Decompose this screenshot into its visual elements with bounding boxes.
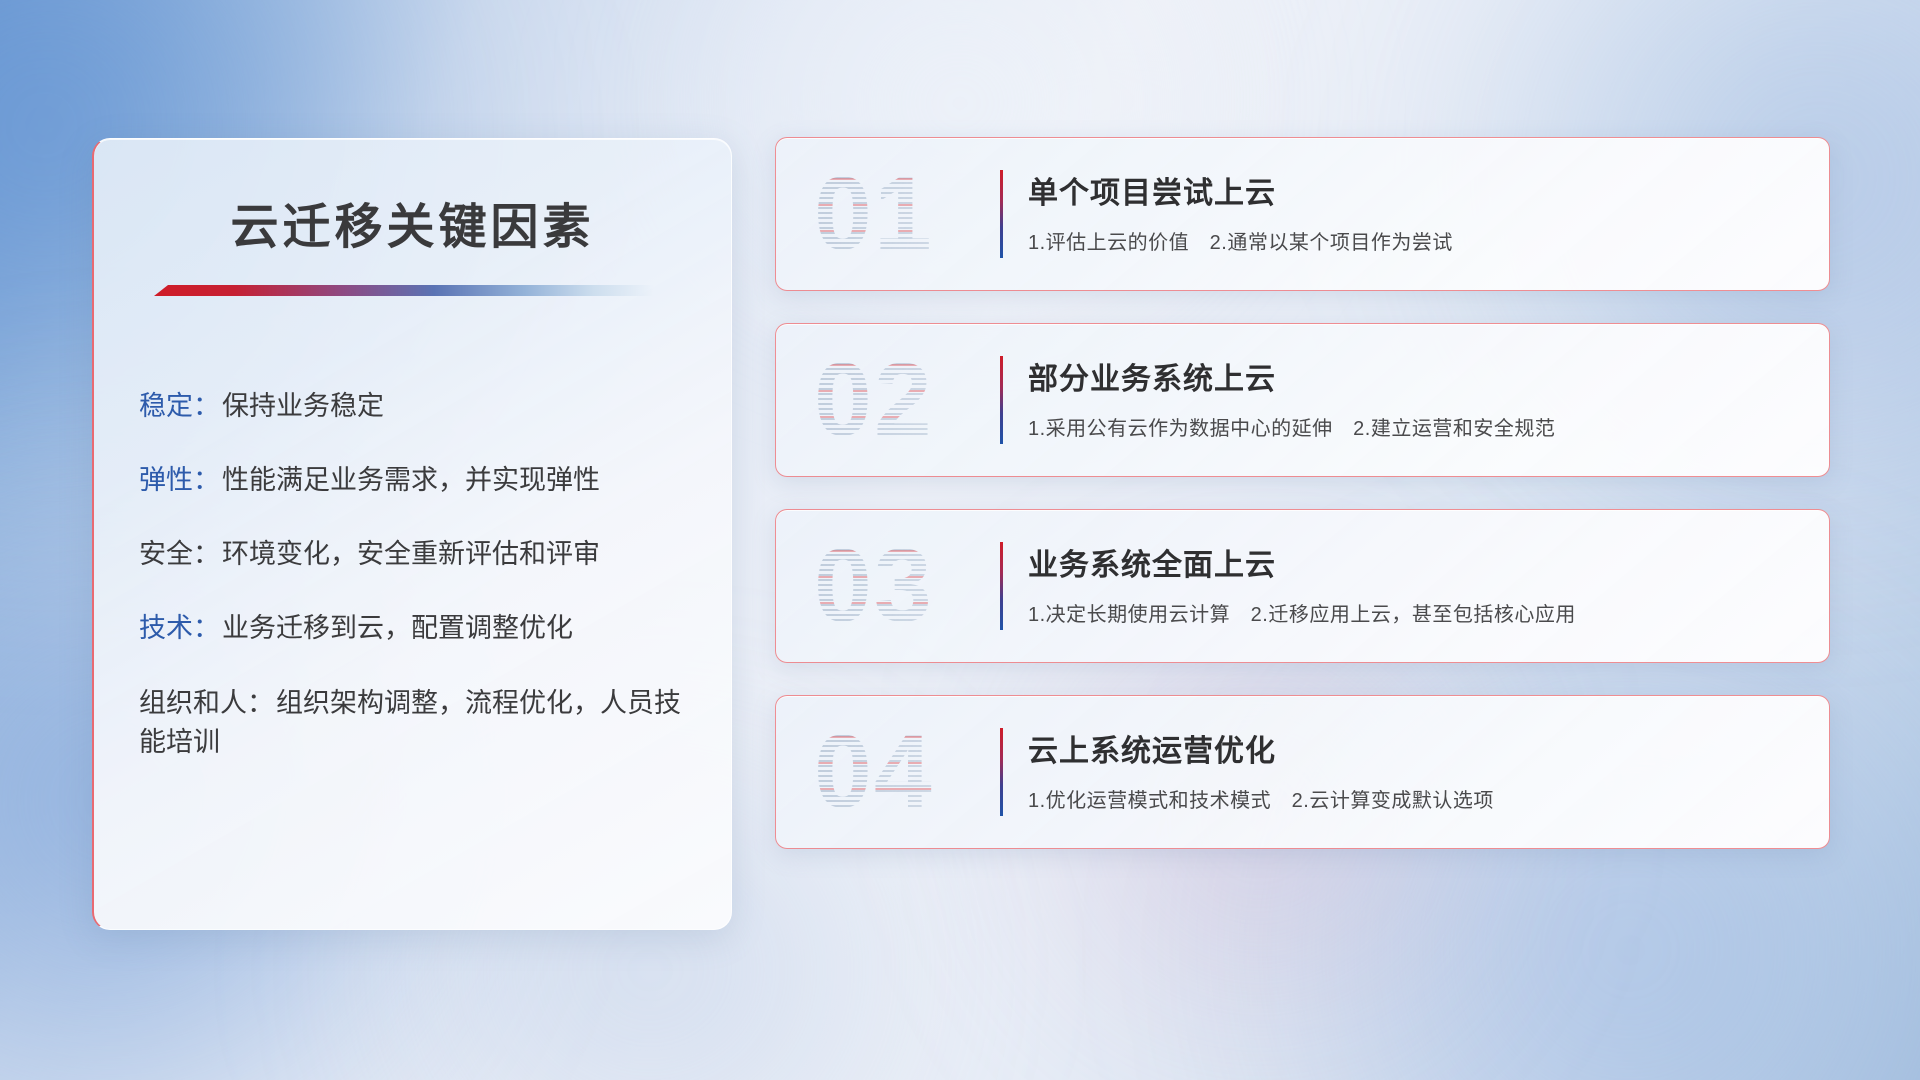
stage-description: 1.采用公有云作为数据中心的延伸 2.建立运营和安全规范: [1028, 412, 1555, 441]
key-factor-row: 弹性：性能满足业务需求，并实现弹性: [139, 461, 703, 500]
key-factor-text: 环境变化，安全重新评估和评审: [222, 539, 600, 569]
key-factor-row: 组织和人：组织架构调整，流程优化，人员技能培训: [139, 684, 703, 762]
stage-card[interactable]: 01 01 单个项目尝试上云 1.评估上云的价值 2.通常以某个项目作为尝试: [775, 137, 1830, 291]
stage-description: 1.决定长期使用云计算 2.迁移应用上云，甚至包括核心应用: [1028, 598, 1576, 627]
key-factor-label: 弹性：: [139, 465, 220, 495]
stage-title: 云上系统运营优化: [1028, 726, 1276, 770]
stage-card[interactable]: 02 02 部分业务系统上云 1.采用公有云作为数据中心的延伸 2.建立运营和安…: [775, 323, 1830, 477]
key-factor-text: 保持业务稳定: [222, 391, 384, 421]
slide-canvas: 云迁移关键因素 稳定：保持业务稳定 弹性：性能满足业务需求，并实现弹性 安全：环…: [0, 0, 1920, 1080]
stage-title: 部分业务系统上云: [1028, 354, 1276, 398]
stage-description: 1.评估上云的价值 2.通常以某个项目作为尝试: [1028, 226, 1453, 255]
stage-number: 01: [814, 152, 989, 276]
stage-card[interactable]: 03 03 业务系统全面上云 1.决定长期使用云计算 2.迁移应用上云，甚至包括…: [775, 509, 1830, 663]
key-factor-row: 安全：环境变化，安全重新评估和评审: [139, 535, 703, 574]
key-factor-label: 安全：: [139, 539, 220, 569]
key-factor-text: 性能满足业务需求，并实现弹性: [222, 465, 600, 495]
stage-card[interactable]: 04 04 云上系统运营优化 1.优化运营模式和技术模式 2.云计算变成默认选项: [775, 695, 1830, 849]
stage-title: 单个项目尝试上云: [1028, 168, 1276, 212]
key-factor-text: 业务迁移到云，配置调整优化: [222, 613, 573, 643]
stage-divider-accent: [1000, 170, 1003, 258]
key-factor-row: 技术：业务迁移到云，配置调整优化: [139, 609, 703, 648]
key-factor-label: 技术：: [139, 613, 220, 643]
migration-stages-list: 01 01 单个项目尝试上云 1.评估上云的价值 2.通常以某个项目作为尝试 0…: [775, 137, 1830, 881]
key-factor-label: 组织和人：: [139, 688, 274, 718]
stage-description: 1.优化运营模式和技术模式 2.云计算变成默认选项: [1028, 784, 1494, 813]
key-factors-list: 稳定：保持业务稳定 弹性：性能满足业务需求，并实现弹性 安全：环境变化，安全重新…: [139, 387, 703, 762]
stage-number: 03: [814, 524, 989, 648]
panel-title: 云迁移关键因素: [94, 187, 731, 257]
key-factor-row: 稳定：保持业务稳定: [139, 387, 703, 426]
stage-divider-accent: [1000, 728, 1003, 816]
stage-number: 04: [814, 710, 989, 834]
stage-divider-accent: [1000, 542, 1003, 630]
key-factors-panel: 云迁移关键因素 稳定：保持业务稳定 弹性：性能满足业务需求，并实现弹性 安全：环…: [92, 138, 732, 930]
stage-number: 02: [814, 338, 989, 462]
title-underline-accent: [154, 285, 654, 296]
stage-divider-accent: [1000, 356, 1003, 444]
key-factor-label: 稳定：: [139, 391, 220, 421]
stage-title: 业务系统全面上云: [1028, 540, 1276, 584]
